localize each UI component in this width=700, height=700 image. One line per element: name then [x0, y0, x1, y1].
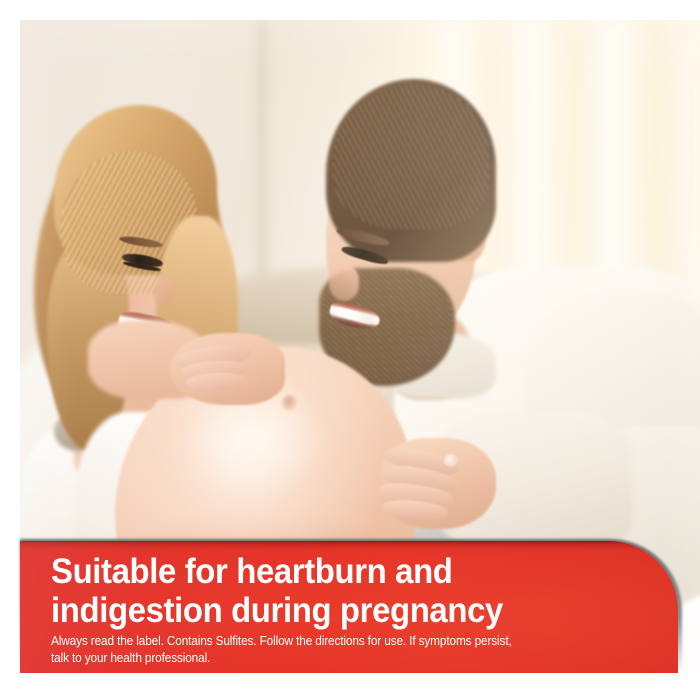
red-banner-wrapper: Suitable for heartburn and indigestion d…: [20, 539, 682, 675]
red-banner: Suitable for heartburn and indigestion d…: [20, 541, 678, 673]
product-banner-canvas: Suitable for heartburn and indigestion d…: [0, 0, 700, 700]
banner-disclaimer: Always read the label. Contains Sulfites…: [51, 633, 615, 667]
man-fingernail: [444, 454, 458, 467]
man-hair-texture: [333, 85, 489, 229]
man-nose: [329, 265, 360, 301]
banner-headline: Suitable for heartburn and indigestion d…: [51, 552, 615, 630]
